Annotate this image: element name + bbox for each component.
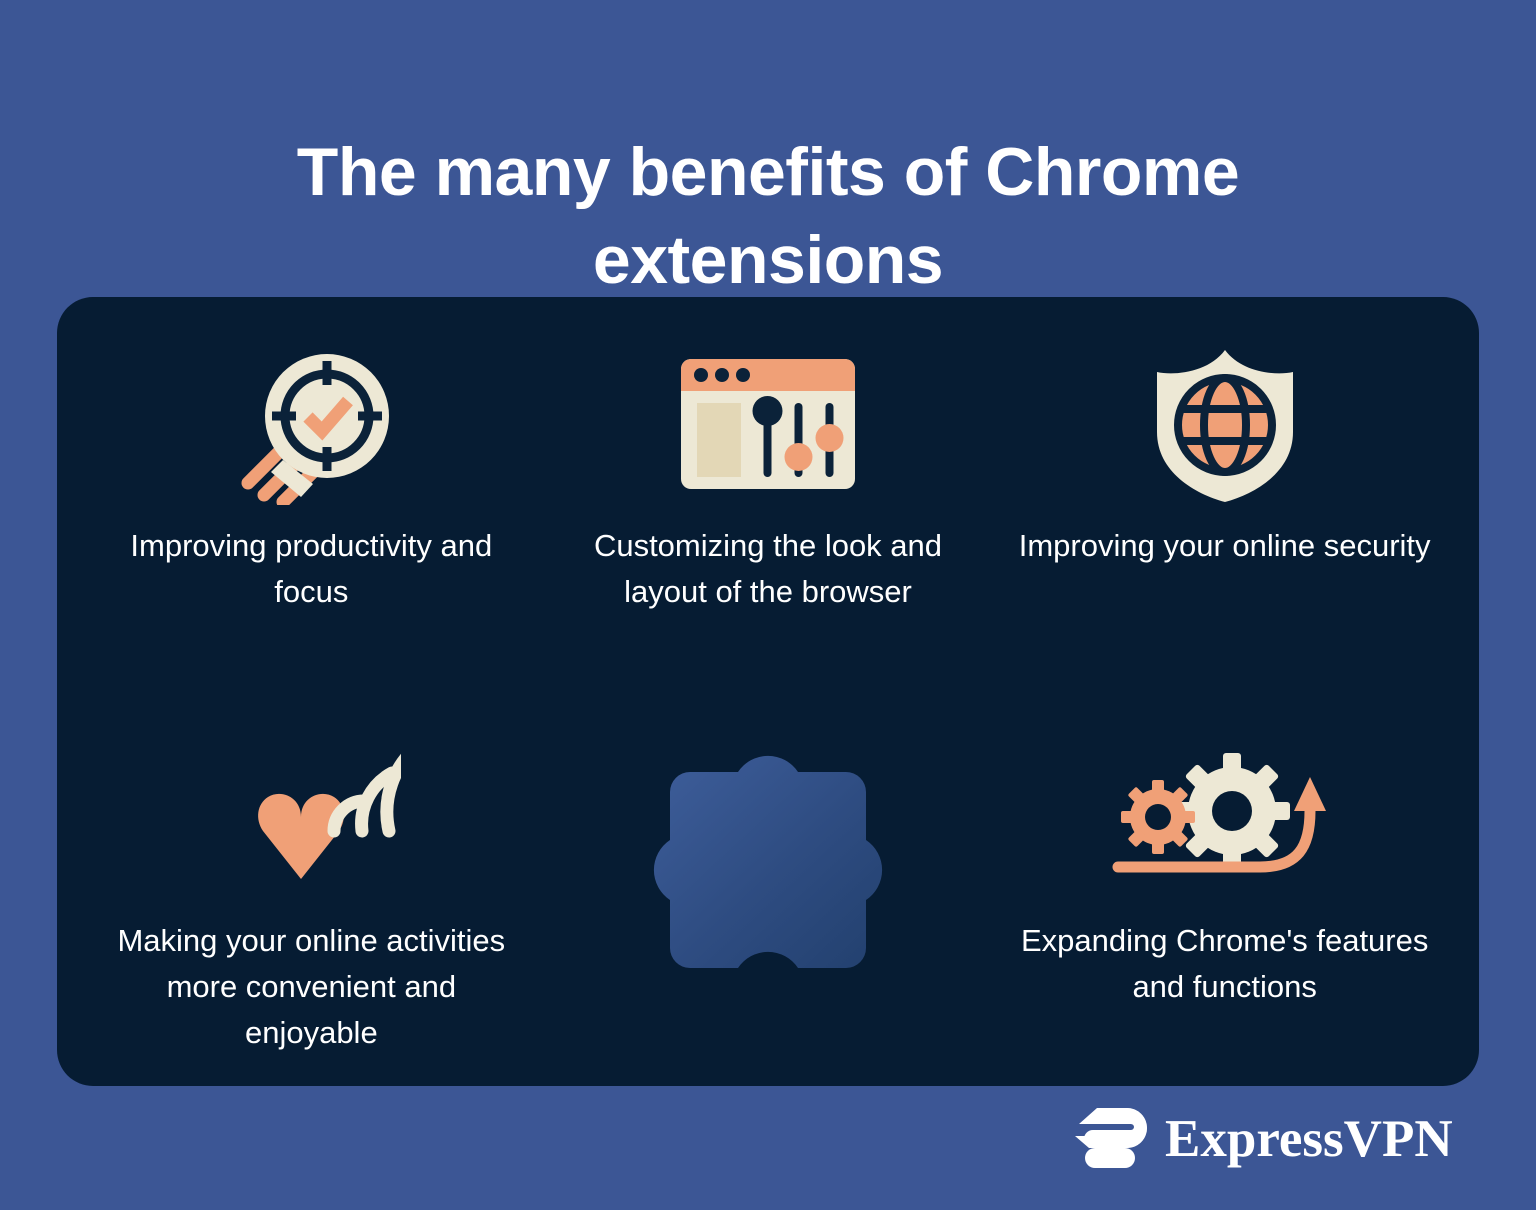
benefit-label: Customizing the look and layout of the b… <box>562 523 975 615</box>
expressvpn-wordmark: ExpressVPN <box>1165 1113 1453 1166</box>
benefit-label: Expanding Chrome's features and function… <box>1018 918 1431 1010</box>
benefits-card: Improving productivity and focus <box>57 297 1479 1086</box>
benefit-label: Improving your online security <box>1019 523 1431 569</box>
benefit-item-security: Improving your online security <box>996 341 1453 698</box>
benefit-label: Improving productivity and focus <box>105 523 518 615</box>
benefit-item-puzzle <box>540 698 997 1056</box>
gears-arrow-icon <box>1110 724 1340 904</box>
shield-globe-icon <box>1149 341 1301 509</box>
benefit-item-expanding: Expanding Chrome's features and function… <box>996 698 1453 1056</box>
benefit-item-convenience: Making your online activities more conve… <box>83 698 540 1056</box>
infographic-poster: The many benefits of Chrome extensions <box>0 0 1536 1210</box>
expressvpn-logo: ExpressVPN <box>1075 1106 1453 1173</box>
expressvpn-e-mark-icon <box>1075 1106 1147 1173</box>
benefit-label: Making your online activities more conve… <box>105 918 518 1056</box>
lightbulb-target-icon <box>226 341 396 509</box>
browser-sliders-icon <box>679 341 857 509</box>
heart-signal-icon <box>221 724 401 904</box>
puzzle-piece-icon <box>628 725 908 1015</box>
page-title: The many benefits of Chrome extensions <box>0 128 1536 304</box>
benefit-item-productivity: Improving productivity and focus <box>83 341 540 698</box>
benefit-item-customizing: Customizing the look and layout of the b… <box>540 341 997 698</box>
benefits-grid: Improving productivity and focus <box>57 297 1479 1086</box>
